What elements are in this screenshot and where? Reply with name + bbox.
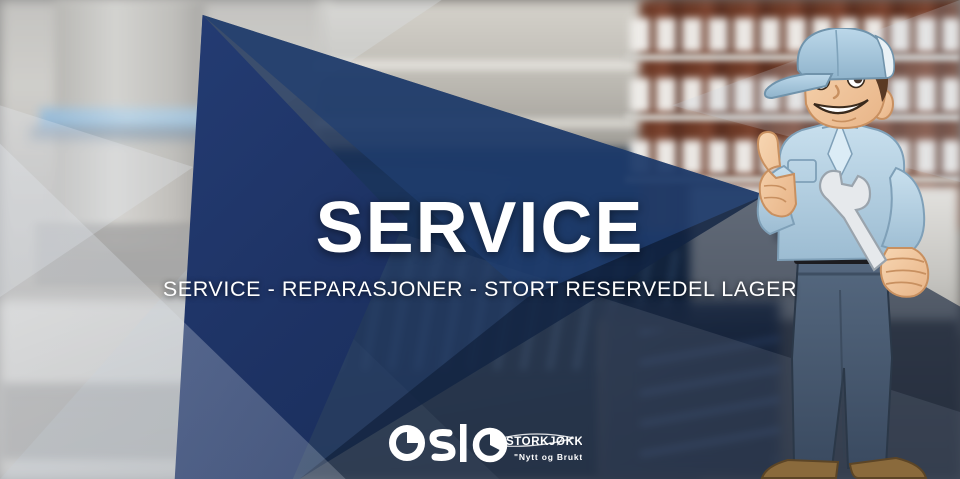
logo-letter-o2 <box>476 431 504 459</box>
logo-company-name: STORKJØKKEN AS <box>506 436 582 448</box>
page-title: SERVICE <box>0 192 960 264</box>
work-shoes <box>762 458 926 478</box>
oslo-storkjokken-logo[interactable]: STORKJØKKEN AS "Nytt og Brukt" <box>386 418 582 470</box>
shelf-rail-top <box>315 60 660 70</box>
lower-grate <box>0 385 200 460</box>
logo-letter-s <box>433 433 452 458</box>
hood-shadow-band <box>30 126 240 140</box>
logo-letter-l <box>460 424 467 462</box>
service-banner: SERVICE SERVICE - REPARASJONER - STORT R… <box>0 0 960 479</box>
logo-tagline: "Nytt og Brukt" <box>514 452 582 462</box>
oslo-circle-mark <box>393 429 422 458</box>
shelf-rail-mid <box>315 118 660 128</box>
banner-subtitle: SERVICE - REPARASJONER - STORT RESERVEDE… <box>0 277 960 302</box>
